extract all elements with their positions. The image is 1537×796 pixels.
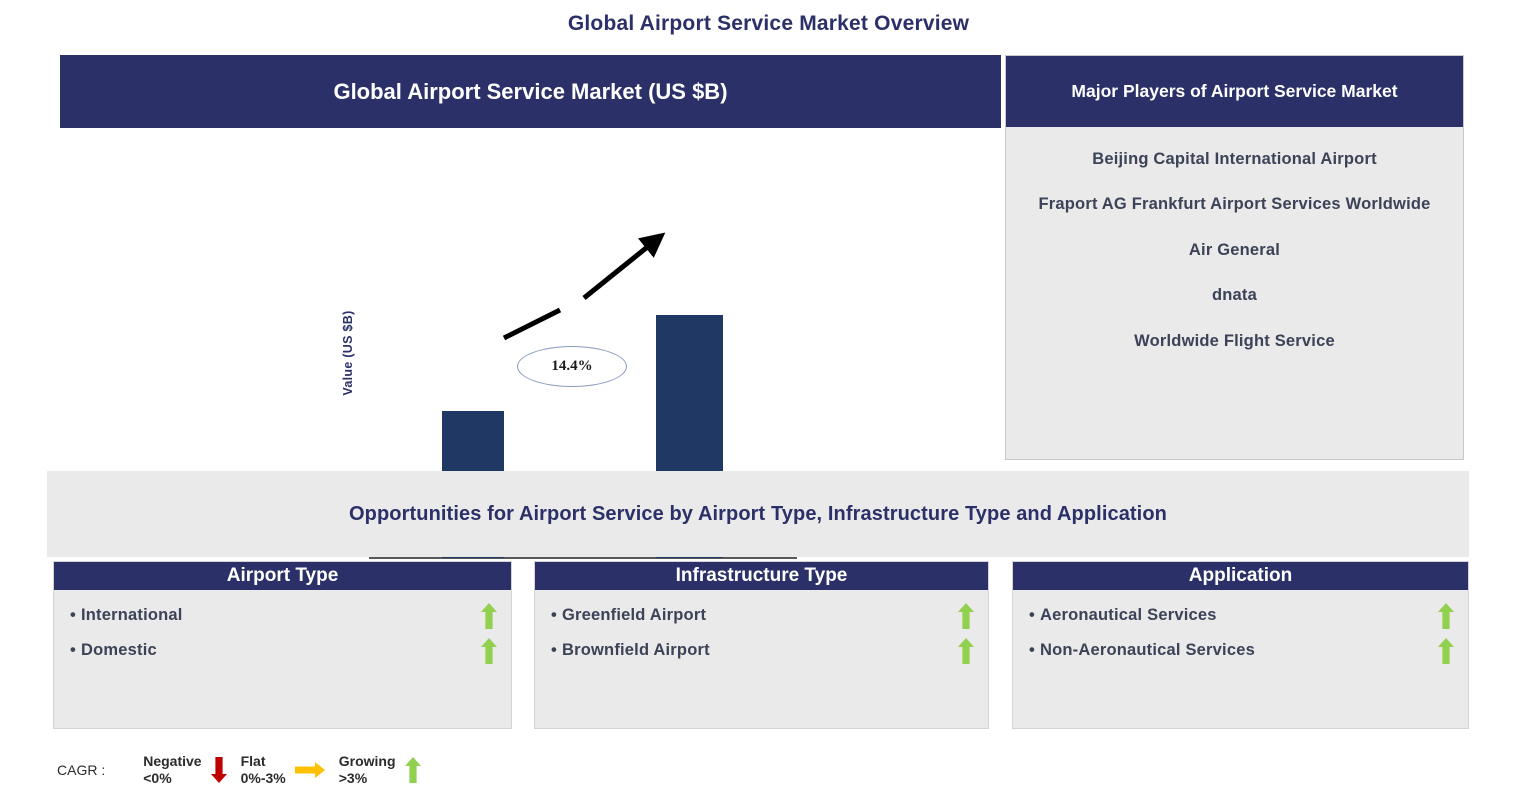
- legend-item-text: Negative <0%: [143, 753, 201, 787]
- list-item-label: •Non-Aeronautical Services: [1029, 641, 1255, 660]
- arrow-up-icon: [481, 638, 497, 664]
- list-item: •Domestic: [70, 637, 497, 664]
- legend-item-name: Flat: [241, 753, 266, 769]
- bullet-icon: •: [70, 606, 76, 624]
- legend-item-name: Growing: [339, 753, 396, 769]
- chart-y-axis-label: Value (US $B): [341, 288, 355, 418]
- list-item: •Greenfield Airport: [551, 602, 974, 629]
- bullet-icon: •: [1029, 606, 1035, 624]
- arrow-down-icon: [211, 757, 227, 783]
- list-item-text: Non-Aeronautical Services: [1040, 641, 1255, 659]
- card-body: •Greenfield Airport •Brownfield Airport: [535, 590, 988, 664]
- legend-item-range: 0%-3%: [241, 770, 286, 787]
- bullet-icon: •: [70, 641, 76, 659]
- infographic-root: Global Airport Service Market Overview G…: [0, 0, 1537, 796]
- arrow-right-icon: [295, 762, 325, 778]
- list-item-text: Greenfield Airport: [562, 606, 706, 624]
- bar-chart: Value (US $B) 2025 2031 14.4%: [60, 128, 1001, 460]
- list-item-text: Brownfield Airport: [562, 641, 710, 659]
- chart-panel-header: Global Airport Service Market (US $B): [60, 55, 1001, 128]
- major-players-list: Beijing Capital International Airport Fr…: [1006, 127, 1463, 352]
- card-application: Application •Aeronautical Services •Non-…: [1012, 561, 1469, 729]
- legend-item-negative: Negative <0%: [143, 753, 226, 787]
- player-item: Air General: [1024, 240, 1445, 261]
- legend-item-range: <0%: [143, 770, 201, 787]
- list-item-text: Domestic: [81, 641, 157, 659]
- player-item: Fraport AG Frankfurt Airport Services Wo…: [1024, 194, 1445, 215]
- market-chart-panel: Global Airport Service Market (US $B) Va…: [60, 55, 1001, 460]
- legend-item-text: Growing >3%: [339, 753, 396, 787]
- card-infrastructure-type: Infrastructure Type •Greenfield Airport …: [534, 561, 989, 729]
- list-item-label: •Greenfield Airport: [551, 606, 706, 625]
- major-players-panel: Major Players of Airport Service Market …: [1005, 55, 1464, 460]
- list-item-label: •Brownfield Airport: [551, 641, 710, 660]
- opportunities-banner: Opportunities for Airport Service by Air…: [47, 471, 1469, 557]
- arrow-up-icon: [481, 603, 497, 629]
- list-item-label: •Domestic: [70, 641, 157, 660]
- opportunities-banner-text: Opportunities for Airport Service by Air…: [349, 503, 1167, 526]
- page-title: Global Airport Service Market Overview: [0, 12, 1537, 36]
- chart-x-axis: [369, 557, 797, 559]
- list-item-label: •Aeronautical Services: [1029, 606, 1217, 625]
- arrow-up-icon: [405, 757, 421, 783]
- player-item: dnata: [1024, 285, 1445, 306]
- list-item: •International: [70, 602, 497, 629]
- bullet-icon: •: [551, 641, 557, 659]
- bullet-icon: •: [1029, 641, 1035, 659]
- major-players-header: Major Players of Airport Service Market: [1006, 56, 1463, 127]
- opportunity-cards: Airport Type •International •Domestic In…: [0, 561, 1537, 729]
- card-title: Airport Type: [54, 562, 511, 590]
- arrow-up-icon: [958, 603, 974, 629]
- list-item: •Non-Aeronautical Services: [1029, 637, 1454, 664]
- cagr-legend-title: CAGR :: [57, 762, 105, 778]
- cagr-legend: CAGR : Negative <0% Flat 0%-3% Growing >…: [57, 748, 435, 792]
- list-item: •Aeronautical Services: [1029, 602, 1454, 629]
- cagr-value-bubble: 14.4%: [517, 346, 627, 387]
- list-item-text: International: [81, 606, 183, 624]
- arrow-up-icon: [1438, 603, 1454, 629]
- legend-item-name: Negative: [143, 753, 201, 769]
- arrow-up-icon: [958, 638, 974, 664]
- card-body: •International •Domestic: [54, 590, 511, 664]
- list-item: •Brownfield Airport: [551, 637, 974, 664]
- bullet-icon: •: [551, 606, 557, 624]
- card-title: Infrastructure Type: [535, 562, 988, 590]
- player-item: Beijing Capital International Airport: [1024, 149, 1445, 170]
- arrow-up-icon: [1438, 638, 1454, 664]
- card-title: Application: [1013, 562, 1468, 590]
- card-airport-type: Airport Type •International •Domestic: [53, 561, 512, 729]
- legend-item-text: Flat 0%-3%: [241, 753, 286, 787]
- legend-item-growing: Growing >3%: [339, 753, 421, 787]
- list-item-label: •International: [70, 606, 183, 625]
- list-item-text: Aeronautical Services: [1040, 606, 1217, 624]
- legend-item-flat: Flat 0%-3%: [241, 753, 325, 787]
- card-body: •Aeronautical Services •Non-Aeronautical…: [1013, 590, 1468, 664]
- player-item: Worldwide Flight Service: [1024, 331, 1445, 352]
- cagr-trend-arrow-icon: [60, 128, 1001, 460]
- legend-item-range: >3%: [339, 770, 396, 787]
